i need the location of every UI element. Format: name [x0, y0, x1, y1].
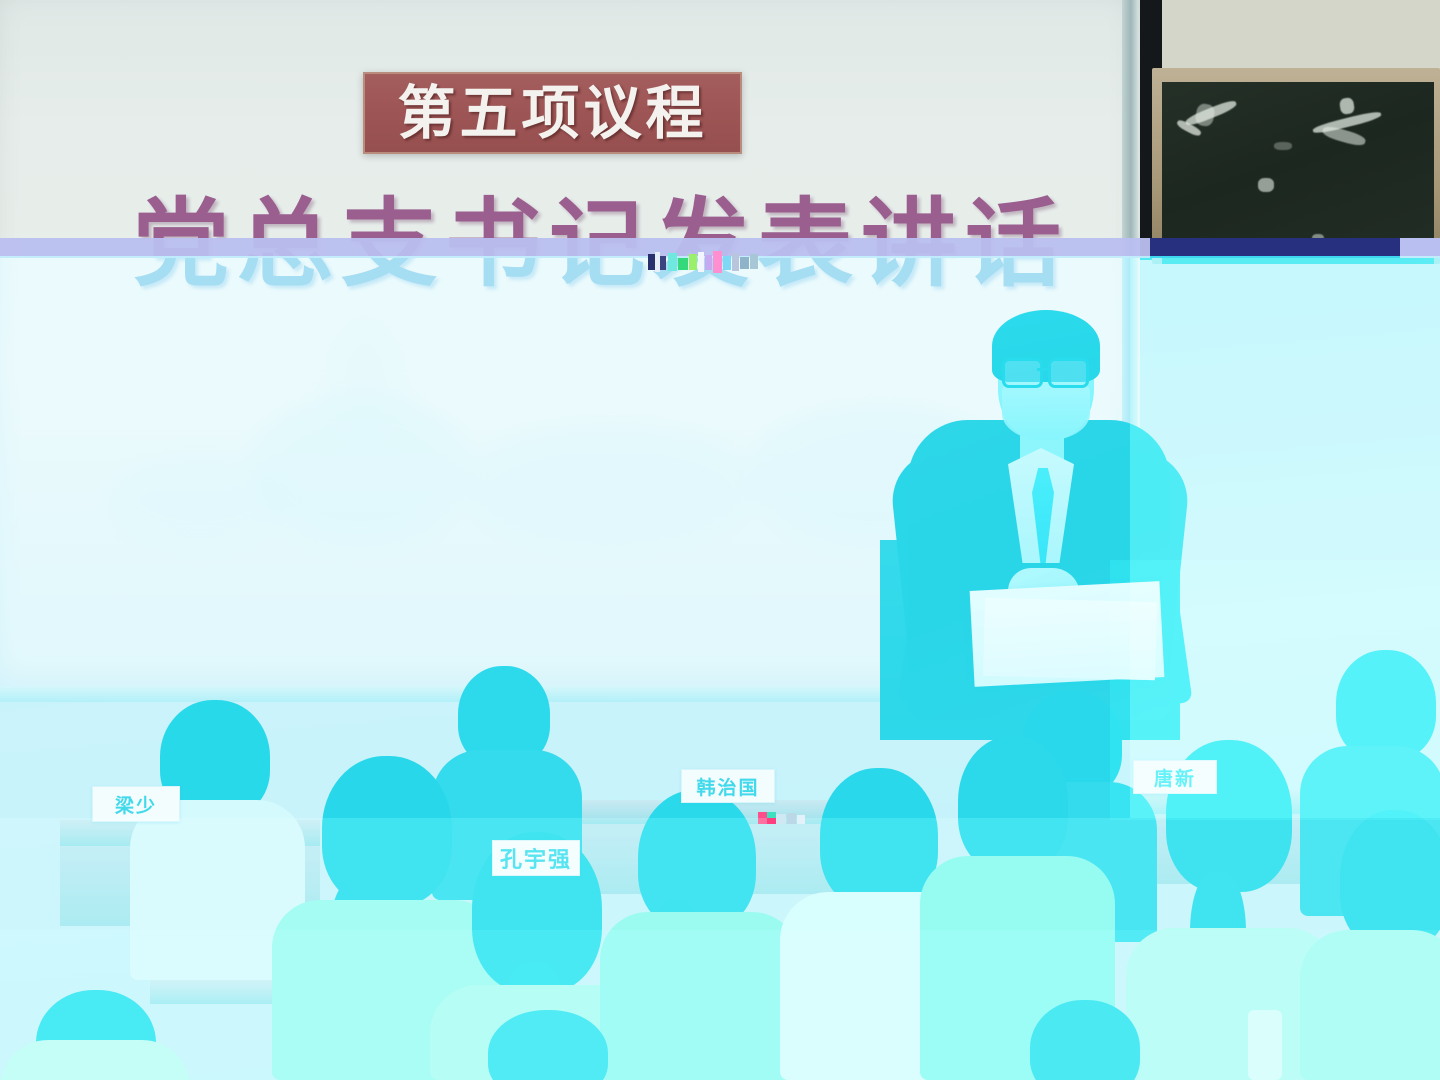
nameplate-label: 韩治国 — [696, 773, 759, 800]
glitch-pixel — [776, 814, 786, 824]
audience-head — [958, 736, 1068, 872]
nameplate: 梁少 — [92, 786, 180, 822]
glitch-block-upper — [648, 250, 758, 280]
slide-art-ghost — [320, 316, 410, 446]
glitch-pixel — [750, 254, 758, 269]
glitch-pixel — [767, 818, 776, 824]
nameplate-label: 孔宇强 — [500, 842, 572, 874]
glitch-pixel — [660, 256, 666, 270]
slide-title-banner: 第五项议程 — [363, 72, 742, 154]
nameplate: 唐新 — [1133, 760, 1217, 794]
nameplate-label: 唐新 — [1154, 764, 1196, 791]
glitch-pixel — [732, 253, 739, 271]
slide-art-ghost — [460, 426, 760, 546]
glitch-pixel — [787, 813, 796, 824]
audience-head — [322, 756, 452, 906]
speech-papers — [983, 598, 1157, 680]
slide-subtitle-text: 党总支书记发表讲话 — [133, 196, 1003, 294]
chalk-mark — [1194, 103, 1216, 128]
photo-canvas: 第五项议程 党总支书记发表讲话 — [0, 0, 1440, 1080]
glitch-pixel — [698, 252, 704, 272]
glitch-pixel — [705, 255, 712, 270]
audience-body — [1300, 930, 1440, 1080]
audience-body — [0, 1040, 190, 1080]
audience-head — [638, 790, 756, 930]
audience-head — [820, 768, 938, 908]
blackboard — [1162, 82, 1434, 264]
glasses-icon — [1002, 358, 1043, 388]
face-mask-icon — [1002, 382, 1090, 440]
chalk-mark — [1339, 97, 1355, 115]
glitch-pixel — [797, 815, 805, 824]
glasses-icon — [1048, 358, 1089, 388]
glitch-pixel — [758, 818, 767, 824]
glitch-pixel — [689, 254, 697, 270]
glitch-pixel — [713, 251, 722, 273]
nameplate: 韩治国 — [681, 769, 775, 803]
audience-head — [1340, 810, 1440, 950]
slide-title-text: 第五项议程 — [397, 84, 707, 142]
glitch-pixel — [740, 257, 749, 269]
chalk-mark — [1258, 178, 1274, 192]
wall-upper-right — [1162, 0, 1440, 74]
glitch-block-lower — [758, 810, 806, 830]
audience-head — [1336, 650, 1436, 760]
chalk-mark — [1312, 234, 1324, 243]
glitch-pixel — [668, 253, 677, 271]
glitch-pixel — [723, 256, 731, 270]
speaker — [880, 300, 1200, 720]
nameplate: 孔宇强 — [492, 840, 580, 876]
audience-body — [600, 912, 800, 1080]
chalk-mark — [1274, 142, 1292, 150]
water-bottle — [1248, 1010, 1282, 1080]
nameplate-label: 梁少 — [115, 791, 157, 818]
glitch-pixel — [648, 254, 655, 270]
glitch-pixel — [678, 258, 688, 270]
glasses-bridge — [1037, 368, 1050, 371]
slide-art-ghost — [110, 456, 290, 546]
